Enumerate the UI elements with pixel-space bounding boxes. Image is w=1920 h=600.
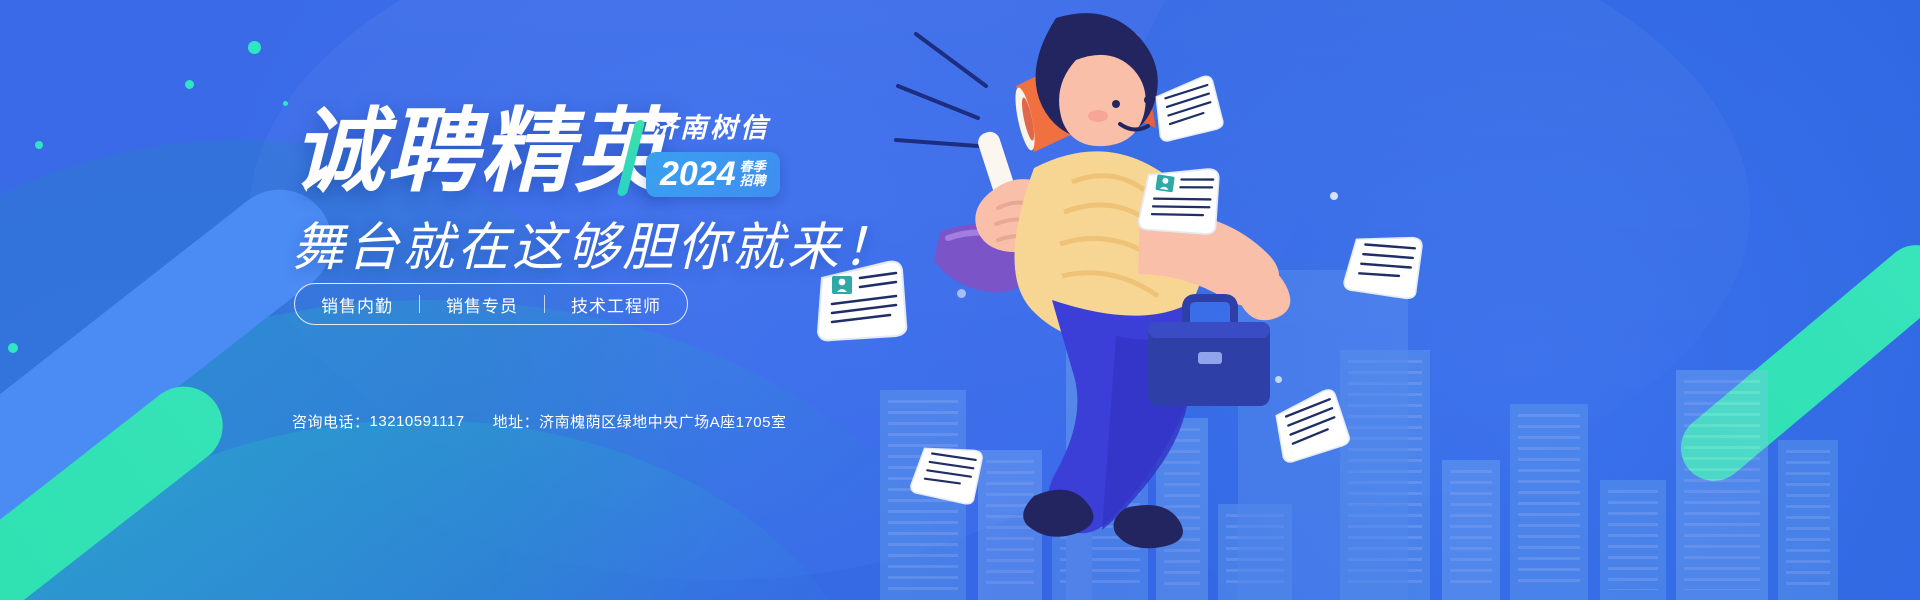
phone-label: 咨询电话： — [292, 411, 370, 432]
banner-content: 诚聘精英 济南树信 2024 春季 招聘 舞台就在这够胆你就来！ 销售内勤 销售… — [0, 0, 1100, 600]
brand-block: 济南树信 2024 春季 招聘 — [630, 106, 810, 197]
recruitment-banner: 诚聘精英 济南树信 2024 春季 招聘 舞台就在这够胆你就来！ 销售内勤 销售… — [0, 0, 1920, 600]
page-title: 诚聘精英 — [292, 106, 668, 198]
headline-row: 诚聘精英 — [292, 106, 668, 198]
badge-season-line1: 春季 — [740, 160, 766, 174]
job-tag-3[interactable]: 技术工程师 — [571, 292, 661, 317]
address-value: 济南槐荫区绿地中央广场A座1705室 — [539, 411, 786, 432]
phone-number[interactable]: 13210591117 — [370, 413, 465, 430]
address-label: 地址： — [493, 411, 540, 432]
resume-paper-icon — [1130, 154, 1236, 247]
job-tag-1[interactable]: 销售内勤 — [321, 292, 393, 317]
job-tag-2[interactable]: 销售专员 — [446, 292, 518, 317]
status-badge: 2024 春季 招聘 — [646, 152, 780, 197]
badge-year: 2024 — [660, 157, 736, 191]
resume-paper-icon — [1145, 69, 1235, 148]
tag-separator — [544, 295, 545, 313]
subtitle: 舞台就在这够胆你就来！ — [292, 205, 897, 280]
job-tags: 销售内勤 销售专员 技术工程师 — [294, 283, 688, 325]
badge-season-line2: 招聘 — [740, 174, 766, 188]
tag-separator — [419, 295, 420, 313]
company-name: 济南树信 — [650, 106, 810, 145]
shoe — [1114, 505, 1183, 548]
badge-season: 春季 招聘 — [740, 160, 766, 188]
contact-info: 咨询电话： 13210591117 地址： 济南槐荫区绿地中央广场A座1705室 — [292, 411, 786, 432]
